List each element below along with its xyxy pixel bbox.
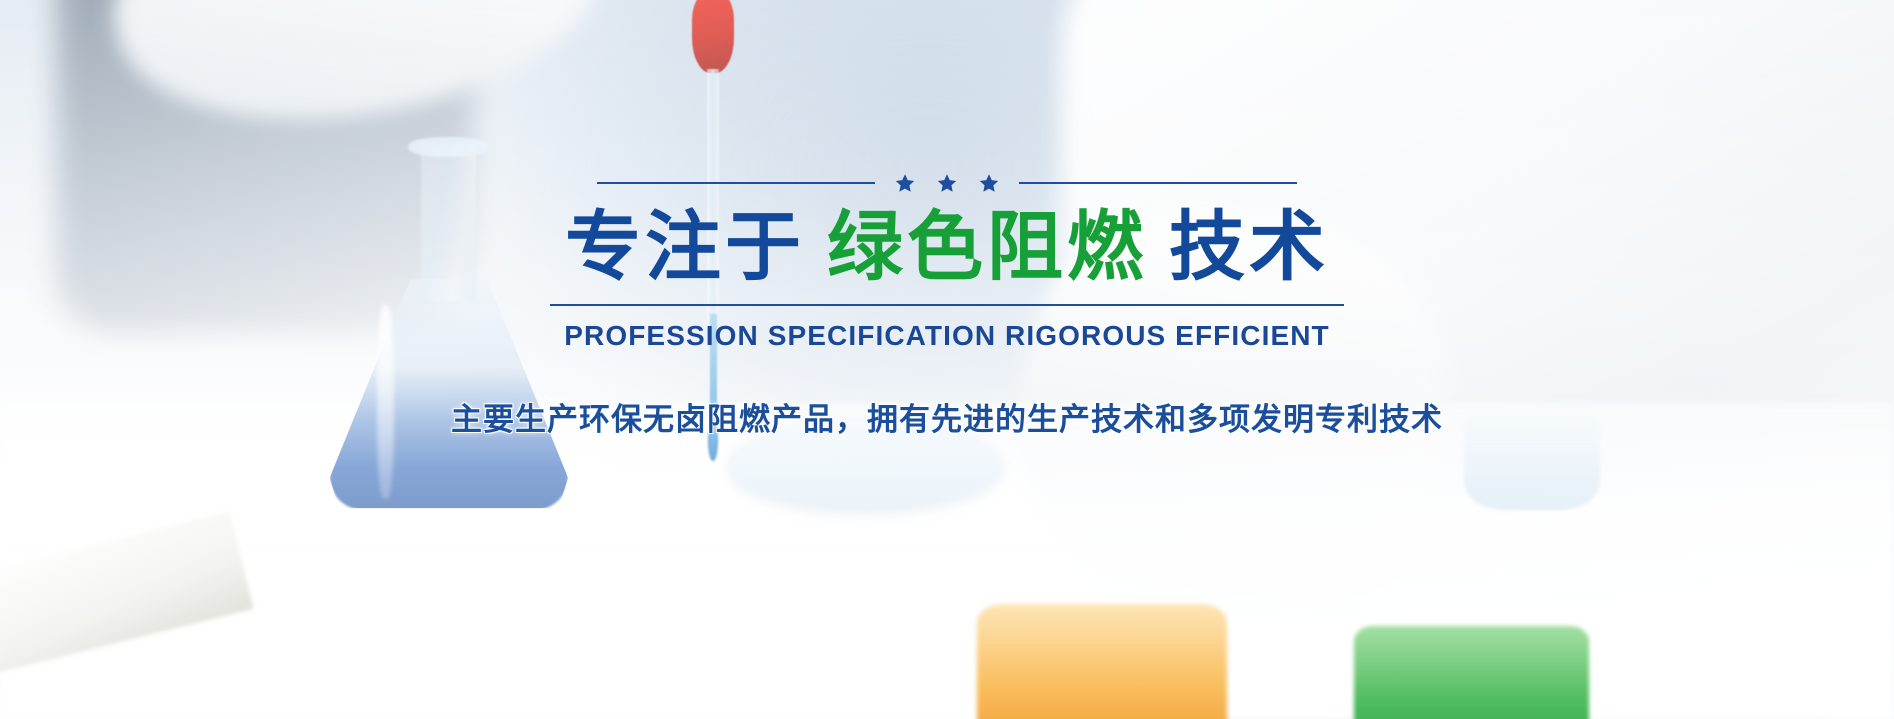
star-icon	[895, 173, 915, 193]
banner-tagline: 主要生产环保无卤阻燃产品，拥有先进的生产技术和多项发明专利技术	[451, 394, 1443, 439]
headline-part-1: 专注于	[565, 205, 805, 290]
star-icon	[937, 173, 957, 193]
headline-part-2: 绿色阻燃	[827, 205, 1147, 290]
banner-content: 专注于绿色阻燃技术 PROFESSION SPECIFICATION RIGOR…	[0, 0, 1894, 719]
headline-underline-rule	[550, 304, 1344, 306]
headline-part-3: 技术	[1169, 205, 1329, 290]
banner-headline: 专注于绿色阻燃技术	[565, 206, 1329, 290]
hero-banner: 专注于绿色阻燃技术 PROFESSION SPECIFICATION RIGOR…	[0, 0, 1894, 719]
star-icon	[979, 173, 999, 193]
banner-subtitle: PROFESSION SPECIFICATION RIGOROUS EFFICI…	[564, 320, 1330, 352]
divider-stars	[875, 173, 1019, 193]
divider-rule-right	[1019, 182, 1297, 184]
star-divider	[550, 172, 1344, 194]
divider-rule-left	[597, 182, 875, 184]
